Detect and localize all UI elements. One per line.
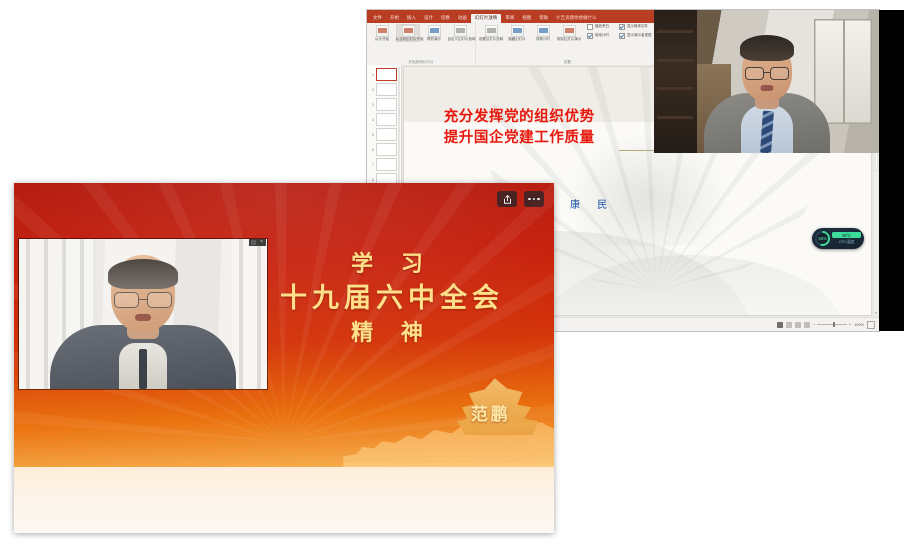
zoom-in-icon[interactable]: + (849, 323, 852, 327)
checkbox-box (587, 33, 593, 39)
slide-number: 5 (369, 133, 374, 137)
status-zoom-level[interactable]: 100% (854, 323, 864, 327)
cpu-usage-gauge: 55% (815, 231, 830, 246)
from-current-slide-label: 从当前幻灯片开始 (396, 38, 421, 42)
slide-number: 4 (369, 118, 374, 122)
ribbon-button-record-slideshow[interactable]: 录制幻灯片演示 (557, 24, 581, 42)
speaker-top-hair (740, 35, 794, 61)
webcam-overlay-top[interactable] (654, 10, 879, 153)
setup-slideshow-label: 设置幻灯片放映 (479, 38, 504, 42)
slide-preview (376, 68, 397, 81)
ribbon-button-present-online[interactable]: 联机演示 (422, 24, 446, 42)
slide-thumbnail[interactable]: 7 (367, 157, 401, 172)
ellipsis-icon (528, 198, 540, 201)
record-slideshow-label: 录制幻灯片演示 (557, 38, 582, 42)
slideshow-window[interactable]: 学 习 十九届六中全会 精 神 范鹏 × (14, 183, 554, 533)
ribbon-tab-insert[interactable]: 插入 (403, 14, 420, 23)
present-online-icon (428, 25, 441, 37)
cpu-monitor-widget[interactable]: 55% 56°C CPU温度 (812, 228, 864, 249)
setup-slideshow-icon (485, 25, 498, 37)
zoom-thumb[interactable] (833, 322, 835, 327)
slide-preview (376, 128, 397, 141)
ribbon-tab-view[interactable]: 视图 (518, 14, 535, 23)
scroll-down-icon[interactable]: ▼ (874, 311, 878, 315)
checkbox-label: 使用计时 (595, 34, 609, 38)
speaker-top-mouth (760, 85, 773, 91)
custom-slideshow-icon (454, 25, 467, 37)
ribbon-setup-checkboxes: 播放旁白 使用计时 (583, 24, 613, 39)
checkbox-box (619, 24, 625, 30)
ribbon-button-hide-slide[interactable]: 隐藏幻灯片 (505, 24, 529, 42)
slideshow-author-name: 范鹏 (471, 400, 511, 425)
zoom-track[interactable] (817, 324, 847, 325)
slideshow-title-line-2: 十九届六中全会 (241, 281, 543, 317)
checkbox-use-timings[interactable]: 使用计时 (587, 33, 609, 39)
ribbon-group-setup: 设置幻灯片放映 隐藏幻灯片 排练计时 录制幻灯片演示 (476, 23, 660, 65)
checkbox-label: 显示演示者视图 (627, 34, 652, 38)
slide-number: 7 (369, 163, 374, 167)
view-reading-icon[interactable] (795, 322, 801, 328)
speaker-bottom-glasses (114, 292, 172, 307)
cpu-temperature-value: 56°C (832, 232, 861, 238)
checkbox-box (619, 33, 625, 39)
bookshelf (654, 10, 697, 153)
ribbon-tab-file[interactable]: 文件 (369, 14, 386, 23)
checkbox-label: 显示媒体控件 (627, 25, 648, 29)
speaker-bottom-hair (108, 259, 178, 289)
webcam-window-controls[interactable]: × (249, 239, 266, 246)
screen-black-border (879, 10, 904, 331)
zoom-slider[interactable]: − + (813, 323, 851, 327)
slide-preview (376, 83, 397, 96)
ribbon-tab-review[interactable]: 审阅 (501, 14, 518, 23)
speaker-bottom-mouth (135, 314, 151, 321)
cpu-temperature-label: CPU温度 (832, 239, 861, 245)
ribbon-tab-slideshow[interactable]: 幻灯片放映 (471, 14, 501, 23)
ribbon-tab-animations[interactable]: 动画 (454, 14, 471, 23)
slideshow-floating-toolbar[interactable] (497, 191, 544, 207)
ribbon-tab-help[interactable]: 帮助 (535, 14, 552, 23)
hide-slide-label: 隐藏幻灯片 (508, 38, 526, 42)
slide-number: 1 (369, 73, 374, 77)
slide-preview (376, 158, 397, 171)
slide-thumbnail[interactable]: 2 (367, 82, 401, 97)
close-icon[interactable]: × (259, 240, 264, 245)
rehearse-timings-label: 排练计时 (536, 38, 550, 42)
fit-to-window-icon[interactable] (867, 321, 875, 329)
status-right-cluster: − + 100% (777, 321, 875, 329)
checkbox-show-media-controls[interactable]: 显示媒体控件 (619, 24, 652, 30)
slideshow-title-block: 学 习 十九届六中全会 精 神 (241, 250, 543, 349)
ribbon-tab-design[interactable]: 设计 (420, 14, 437, 23)
view-slide-sorter-icon[interactable] (786, 322, 792, 328)
ribbon-setup-checkboxes-2: 显示媒体控件 显示演示者视图 (615, 24, 656, 39)
ribbon-button-custom-slideshow[interactable]: 自定义幻灯片放映 (448, 24, 472, 42)
slide-number: 3 (369, 103, 374, 107)
slide-number: 2 (369, 88, 374, 92)
slideshow-title-line-3: 精 神 (241, 319, 543, 348)
curtain-right (232, 239, 267, 389)
slide-number: 6 (369, 148, 374, 152)
ribbon-group-start-slideshow: 从头开始 从当前幻灯片开始 联机演示 自定义幻灯片放映 开始放 (367, 23, 476, 65)
slide-preview (376, 113, 397, 126)
slide-preview (376, 143, 397, 156)
present-online-label: 联机演示 (427, 38, 441, 42)
ribbon-button-setup-slideshow[interactable]: 设置幻灯片放映 (479, 24, 503, 42)
restore-window-icon[interactable] (251, 240, 256, 245)
slide-subtitle-name: 康 民 (570, 200, 614, 211)
ribbon-button-from-current-slide[interactable]: 从当前幻灯片开始 (396, 24, 420, 42)
tellme-label: 告诉我你想做什么 (561, 15, 597, 20)
checkbox-play-narrations[interactable]: 播放旁白 (587, 24, 609, 30)
cpu-widget-right: 56°C CPU温度 (832, 232, 861, 245)
slide-number: 8 (369, 178, 374, 182)
webcam-overlay-bottom[interactable]: × (19, 239, 267, 389)
ribbon-tab-home[interactable]: 开始 (386, 14, 403, 23)
slide-thumbnail[interactable]: 3 (367, 97, 401, 112)
rehearse-timings-icon (537, 25, 550, 37)
checkbox-box (587, 24, 593, 30)
from-current-slide-icon (402, 25, 415, 37)
checkbox-label: 播放旁白 (595, 25, 609, 29)
share-icon (503, 195, 512, 204)
ribbon-tab-transitions[interactable]: 切换 (437, 14, 454, 23)
slideshow-title-line-1: 学 习 (241, 250, 543, 279)
zoom-out-icon[interactable]: − (813, 323, 816, 327)
ribbon-button-rehearse-timings[interactable]: 排练计时 (531, 24, 555, 42)
checkbox-show-presenter-view[interactable]: 显示演示者视图 (619, 33, 652, 39)
custom-slideshow-label: 自定义幻灯片放映 (448, 38, 473, 42)
slide-thumbnail[interactable]: 5 (367, 127, 401, 142)
view-slideshow-icon[interactable] (804, 322, 810, 328)
share-button[interactable] (497, 191, 517, 207)
slide-thumbnail[interactable]: 4 (367, 112, 401, 127)
lightbulb-icon: ⚲ (556, 16, 559, 20)
hide-slide-icon (511, 25, 524, 37)
room-window (814, 19, 873, 125)
speaker-top-glasses (745, 67, 789, 79)
slide-preview (376, 98, 397, 111)
more-options-button[interactable] (524, 191, 544, 207)
ribbon-button-from-beginning[interactable]: 从头开始 (370, 24, 394, 42)
view-normal-icon[interactable] (777, 322, 783, 328)
cpu-usage-value: 55% (815, 231, 830, 246)
slide-thumbnail[interactable]: 6 (367, 142, 401, 157)
speaker-top-necktie (760, 111, 774, 153)
speaker-bottom-zipper (139, 349, 147, 389)
from-beginning-label: 从头开始 (375, 38, 389, 42)
record-slideshow-icon (563, 25, 576, 37)
from-beginning-icon (376, 25, 389, 37)
screen-root: 文件 开始 插入 设计 切换 动画 幻灯片放映 审阅 视图 帮助 ⚲告诉我你想做… (0, 0, 909, 559)
ribbon-tellme-search[interactable]: ⚲告诉我你想做什么 (552, 14, 600, 23)
slide-thumbnail[interactable]: 1 (367, 67, 401, 82)
slideshow-floor-band (14, 467, 554, 534)
